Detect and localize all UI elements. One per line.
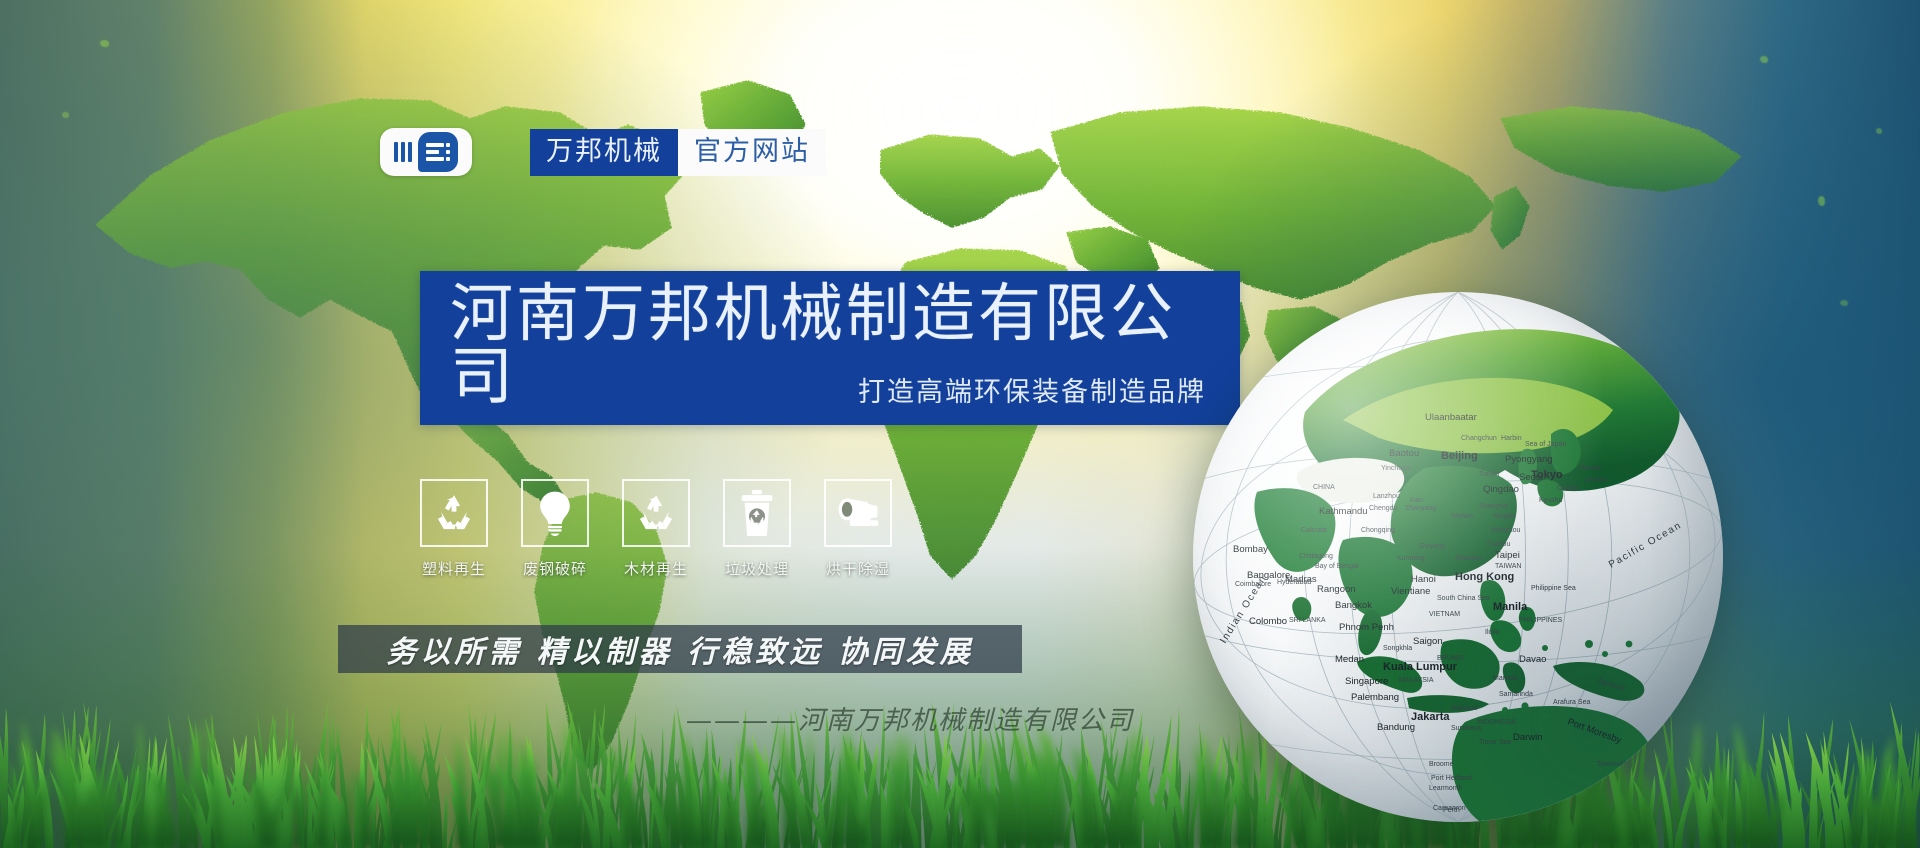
svg-text:Beijing: Beijing — [1441, 450, 1478, 462]
tab-wanbang-machinery[interactable]: 万邦机械 — [530, 129, 678, 176]
svg-text:Wenzhou: Wenzhou — [1491, 527, 1521, 534]
svg-text:Sea of Japan: Sea of Japan — [1525, 441, 1566, 448]
svg-text:Kunming: Kunming — [1397, 555, 1425, 562]
svg-text:Bandung: Bandung — [1377, 722, 1415, 733]
feature-item-waste-treatment[interactable]: 垃圾处理 — [723, 479, 791, 579]
svg-text:Arafura Sea: Arafura Sea — [1553, 699, 1590, 706]
svg-text:Pyongyang: Pyongyang — [1505, 454, 1553, 465]
svg-text:Chongqing: Chongqing — [1361, 527, 1395, 534]
svg-text:Timor Sea: Timor Sea — [1479, 739, 1511, 746]
feature-item-wood-recycling[interactable]: 木材再生 — [622, 479, 690, 579]
svg-text:Bay of Bengal: Bay of Bengal — [1315, 563, 1359, 570]
hero-banner: 万邦机械 官方网站 河南万邦机械制造有限公司 打造高端环保装备制造品牌 塑料再生 — [0, 0, 1920, 848]
svg-text:Zhanyang: Zhanyang — [1405, 505, 1436, 512]
svg-text:Shanghai: Shanghai — [1479, 503, 1509, 510]
leaf-speck — [100, 40, 109, 47]
leaf-speck — [1760, 56, 1768, 63]
feature-item-plastic-recycling[interactable]: 塑料再生 — [420, 479, 488, 579]
svg-text:Calcutta: Calcutta — [1301, 527, 1327, 534]
svg-text:Chittagong: Chittagong — [1299, 553, 1333, 560]
logo-letter-w-icon — [394, 142, 412, 162]
page-subtitle: 打造高端环保装备制造品牌 — [858, 370, 1206, 409]
tab-official-website[interactable]: 官方网站 — [678, 129, 826, 176]
svg-text:Makasar: Makasar — [1451, 705, 1479, 712]
svg-text:Perth: Perth — [1443, 807, 1460, 814]
svg-text:Seoul: Seoul — [1519, 472, 1543, 483]
slogan-text: 务以所需 精以制器 行稳致远 协同发展 — [386, 627, 973, 671]
leaf-speck — [1876, 128, 1882, 134]
feature-item-scrap-steel-crushing[interactable]: 废钢破碎 — [521, 479, 589, 579]
svg-text:Phnom Penh: Phnom Penh — [1339, 622, 1394, 633]
brand-bar: 万邦机械 官方网站 — [380, 124, 826, 180]
svg-text:BRUNEI: BRUNEI — [1437, 655, 1464, 662]
svg-text:Pacific Ocean: Pacific Ocean — [1607, 520, 1684, 571]
svg-text:Ulaanbaatar: Ulaanbaatar — [1425, 412, 1477, 423]
svg-text:Port Hedland: Port Hedland — [1431, 775, 1472, 782]
svg-text:Chengdu: Chengdu — [1369, 505, 1398, 512]
svg-text:Wuhan: Wuhan — [1451, 513, 1473, 520]
svg-text:Medan: Medan — [1335, 654, 1364, 665]
svg-text:Baotou: Baotou — [1389, 448, 1419, 459]
svg-text:Hanoi: Hanoi — [1411, 574, 1436, 585]
svg-text:Lanzhou: Lanzhou — [1373, 493, 1400, 500]
svg-text:VIETNAM: VIETNAM — [1429, 611, 1460, 618]
slogan-attribution: ————河南万邦机械制造有限公司 — [640, 700, 1180, 737]
svg-text:Taipei: Taipei — [1495, 550, 1520, 561]
feature-label: 塑料再生 — [422, 558, 486, 579]
slogan-banner: 务以所需 精以制器 行稳致远 协同发展 — [338, 625, 1022, 673]
svg-text:Samarinda: Samarinda — [1499, 691, 1533, 698]
feature-icon-row: 塑料再生 废钢破碎 — [420, 479, 892, 579]
svg-text:Bangkok: Bangkok — [1335, 600, 1372, 611]
svg-text:Philippine Sea: Philippine Sea — [1531, 585, 1576, 592]
svg-text:Songkhla: Songkhla — [1383, 645, 1412, 652]
svg-text:Fuzhou: Fuzhou — [1487, 541, 1510, 548]
svg-text:Changchun: Changchun — [1461, 435, 1497, 442]
svg-text:Xian: Xian — [1409, 497, 1423, 504]
svg-text:Singapore: Singapore — [1345, 676, 1388, 687]
svg-text:SRI LANKA: SRI LANKA — [1289, 617, 1326, 624]
feature-label: 废钢破碎 — [523, 558, 587, 579]
svg-text:Colombo: Colombo — [1249, 616, 1287, 627]
svg-text:Iloilo: Iloilo — [1485, 629, 1500, 636]
svg-text:PHILIPPINES: PHILIPPINES — [1519, 617, 1563, 624]
recycle-icon — [622, 479, 690, 547]
svg-text:Osaka: Osaka — [1557, 485, 1577, 492]
trash-bin-icon — [723, 479, 791, 547]
svg-text:Jakarta: Jakarta — [1411, 711, 1450, 723]
feature-label: 木材再生 — [624, 558, 688, 579]
svg-text:Saigon: Saigon — [1413, 636, 1443, 647]
svg-text:Harbin: Harbin — [1501, 435, 1522, 442]
lightbulb-icon — [521, 479, 589, 547]
svg-text:Manado: Manado — [1493, 675, 1518, 682]
svg-text:Kuala Lumpur: Kuala Lumpur — [1383, 661, 1458, 673]
svg-text:Davao: Davao — [1519, 654, 1546, 665]
svg-text:Learmonth: Learmonth — [1429, 785, 1463, 792]
svg-text:Sendai: Sendai — [1579, 465, 1601, 472]
svg-text:TAIWAN: TAIWAN — [1495, 563, 1521, 570]
svg-text:Tianjin: Tianjin — [1479, 471, 1499, 478]
svg-text:INDONESIA: INDONESIA — [1477, 719, 1516, 726]
svg-text:Manila: Manila — [1493, 601, 1528, 613]
hero-title-panel: 河南万邦机械制造有限公司 打造高端环保装备制造品牌 — [420, 271, 1240, 425]
earth-globe-asia: Ulaanbaatar Beijing Baotou Changchun Har… — [1193, 292, 1723, 822]
svg-text:Yinchuan: Yinchuan — [1381, 465, 1410, 472]
svg-text:Qingdao: Qingdao — [1483, 484, 1519, 495]
logo-letter-b-icon — [418, 132, 458, 172]
leaf-speck — [1840, 300, 1848, 306]
svg-text:Vientiane: Vientiane — [1391, 586, 1430, 597]
recycle-icon — [420, 479, 488, 547]
svg-text:CHINA: CHINA — [1313, 484, 1335, 491]
feature-label: 垃圾处理 — [725, 558, 789, 579]
svg-text:Kyushu: Kyushu — [1539, 497, 1562, 504]
svg-text:Hong Kong: Hong Kong — [1455, 571, 1514, 583]
svg-text:Hyderabad: Hyderabad — [1277, 579, 1311, 586]
leaf-speck — [1818, 196, 1825, 206]
svg-text:Palembang: Palembang — [1351, 692, 1399, 703]
leaf-speck — [62, 112, 69, 118]
svg-text:Guiyang: Guiyang — [1419, 543, 1445, 550]
svg-text:Darwin: Darwin — [1513, 732, 1543, 743]
svg-text:Rangoon: Rangoon — [1317, 584, 1356, 595]
svg-text:South China Sea: South China Sea — [1437, 595, 1490, 602]
svg-text:MALAYSIA: MALAYSIA — [1399, 677, 1434, 684]
svg-text:Surabaya: Surabaya — [1451, 725, 1481, 732]
svg-text:JAPAN: JAPAN — [1585, 477, 1607, 484]
wanbang-logo[interactable] — [380, 128, 472, 176]
feature-label: 烘干除湿 — [826, 558, 890, 579]
svg-text:Kathmandu: Kathmandu — [1319, 506, 1368, 517]
svg-text:Broome: Broome — [1429, 761, 1454, 768]
svg-text:Ningbo: Ningbo — [1493, 513, 1515, 520]
svg-text:Shantou: Shantou — [1455, 555, 1481, 562]
svg-text:Bombay: Bombay — [1233, 544, 1268, 555]
feature-item-drying-dehumidifying[interactable]: 烘干除湿 — [824, 479, 892, 579]
blower-dryer-icon — [824, 479, 892, 547]
